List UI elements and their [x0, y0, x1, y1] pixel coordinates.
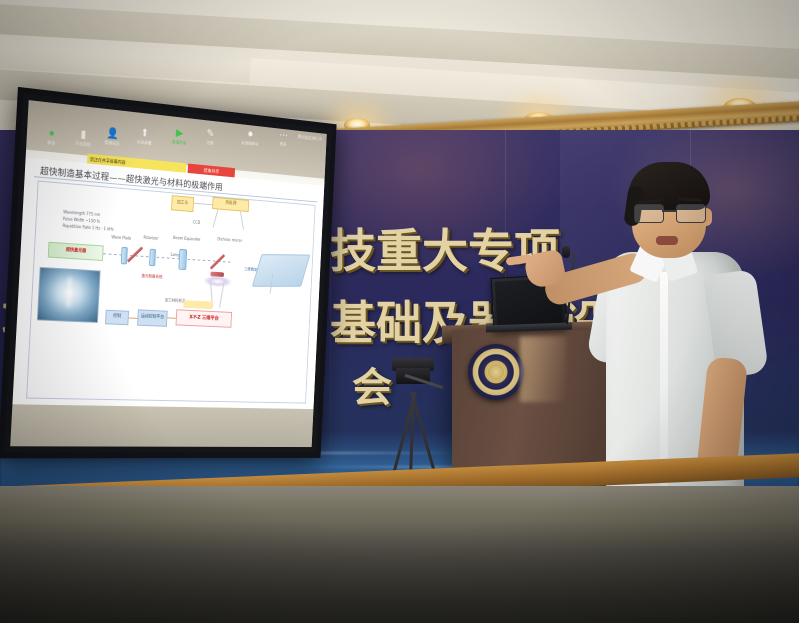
members-label: 管理成员 [104, 140, 119, 147]
floor-shadow [0, 520, 799, 623]
motion-platform-box: 运动控制平台 [137, 309, 168, 327]
more-label: 更多 [280, 141, 287, 146]
optic-label-dichroic: Dichroic mirror [217, 237, 242, 243]
seal-center [488, 364, 504, 380]
invite-share-label: 邀请共享 [172, 139, 187, 145]
stage-plate [183, 300, 212, 309]
optic-label-waveplate: Wave Plate [111, 234, 131, 240]
mic-label: 静音 [47, 140, 55, 146]
annotate-button[interactable]: ✎ 注释 [206, 129, 215, 146]
slide-diagram: 加工头 热处理 Wavelength 775 nm Pulse Width ~1… [26, 180, 315, 403]
projection-surface: 腾讯会议进行中 ● 静音 ▮ 开启视频 👤 管理成员 ⬆ 共享屏幕 [10, 100, 327, 447]
meeting-id-label: 腾讯会议进行中 [298, 134, 322, 142]
lens-left [634, 204, 664, 223]
projection-screen: 腾讯会议进行中 ● 静音 ▮ 开启视频 👤 管理成员 ⬆ 共享屏幕 [0, 87, 337, 458]
record-button[interactable]: ⏺ 云录制转写 [241, 129, 259, 147]
mic-button[interactable]: ● 静音 [47, 128, 56, 146]
share-screen-label: 共享屏幕 [137, 139, 152, 146]
camera-label: 开启视频 [75, 141, 91, 148]
share-screen-button[interactable]: ⬆ 共享屏幕 [137, 128, 153, 146]
waveplate-optic [121, 247, 128, 265]
more-button[interactable]: ⋯ 更多 [279, 130, 289, 147]
camera-button[interactable]: ▮ 开启视频 [75, 129, 91, 147]
play-icon: ▶ [176, 128, 184, 139]
lens-right [676, 204, 706, 223]
record-icon: ⏺ [248, 130, 253, 141]
presentation-slide: 超快制造基本过程——超快激光与材料的极端作用 加工头 热处理 Wavelengt… [12, 157, 324, 409]
members-button[interactable]: 👤 管理成员 [104, 128, 120, 146]
processing-head-box: 加工头 [171, 195, 194, 212]
screen-lower-skirt [10, 404, 313, 447]
laser-param-3: Repetition Rate 1 Hz - 1 kHz [62, 223, 114, 232]
optic-label-ccd: CCD [193, 220, 201, 225]
laser-source-box: 超快激光器 [48, 242, 104, 261]
university-seal-icon [468, 344, 524, 400]
optic-label-beamexpander: Beam Expander [173, 235, 200, 242]
record-label: 云录制转写 [241, 140, 258, 147]
polarizer-optic [149, 249, 156, 267]
laser-flare [67, 277, 71, 307]
optic-label-polarizer: Polarizer [143, 235, 158, 241]
eyeglasses-icon [634, 204, 706, 221]
xyz-platform-box: X-Y-Z 三维平台 [176, 309, 232, 327]
stop-share-label: 结束共享 [204, 167, 220, 174]
specimen-photo [37, 267, 101, 323]
laser-system-label: 激光制备系统 [141, 273, 162, 280]
mouth [656, 236, 678, 245]
members-icon: 👤 [106, 128, 119, 140]
annotate-icon: ✎ [206, 129, 214, 140]
glasses-bridge [662, 210, 676, 212]
focus-glow [203, 275, 232, 288]
share-screen-icon: ⬆ [140, 128, 149, 139]
sample-label: 加工材料样品 [165, 297, 186, 304]
more-icon: ⋯ [279, 130, 288, 141]
control-box: 控制 [105, 310, 129, 326]
camera-icon: ▮ [80, 129, 86, 140]
invite-share-button[interactable]: ▶ 邀请共享 [172, 128, 187, 146]
annotate-label: 注释 [206, 140, 213, 146]
conference-photo-scene: 技重大专项 基础及器 设计 会 项 腾讯会议进行中 ● 静音 ▮ 开启视频 👤 … [0, 0, 799, 623]
microphone-icon: ● [48, 128, 55, 139]
3d-stage-illustration [252, 254, 310, 287]
beam-expander-optic [178, 249, 187, 270]
